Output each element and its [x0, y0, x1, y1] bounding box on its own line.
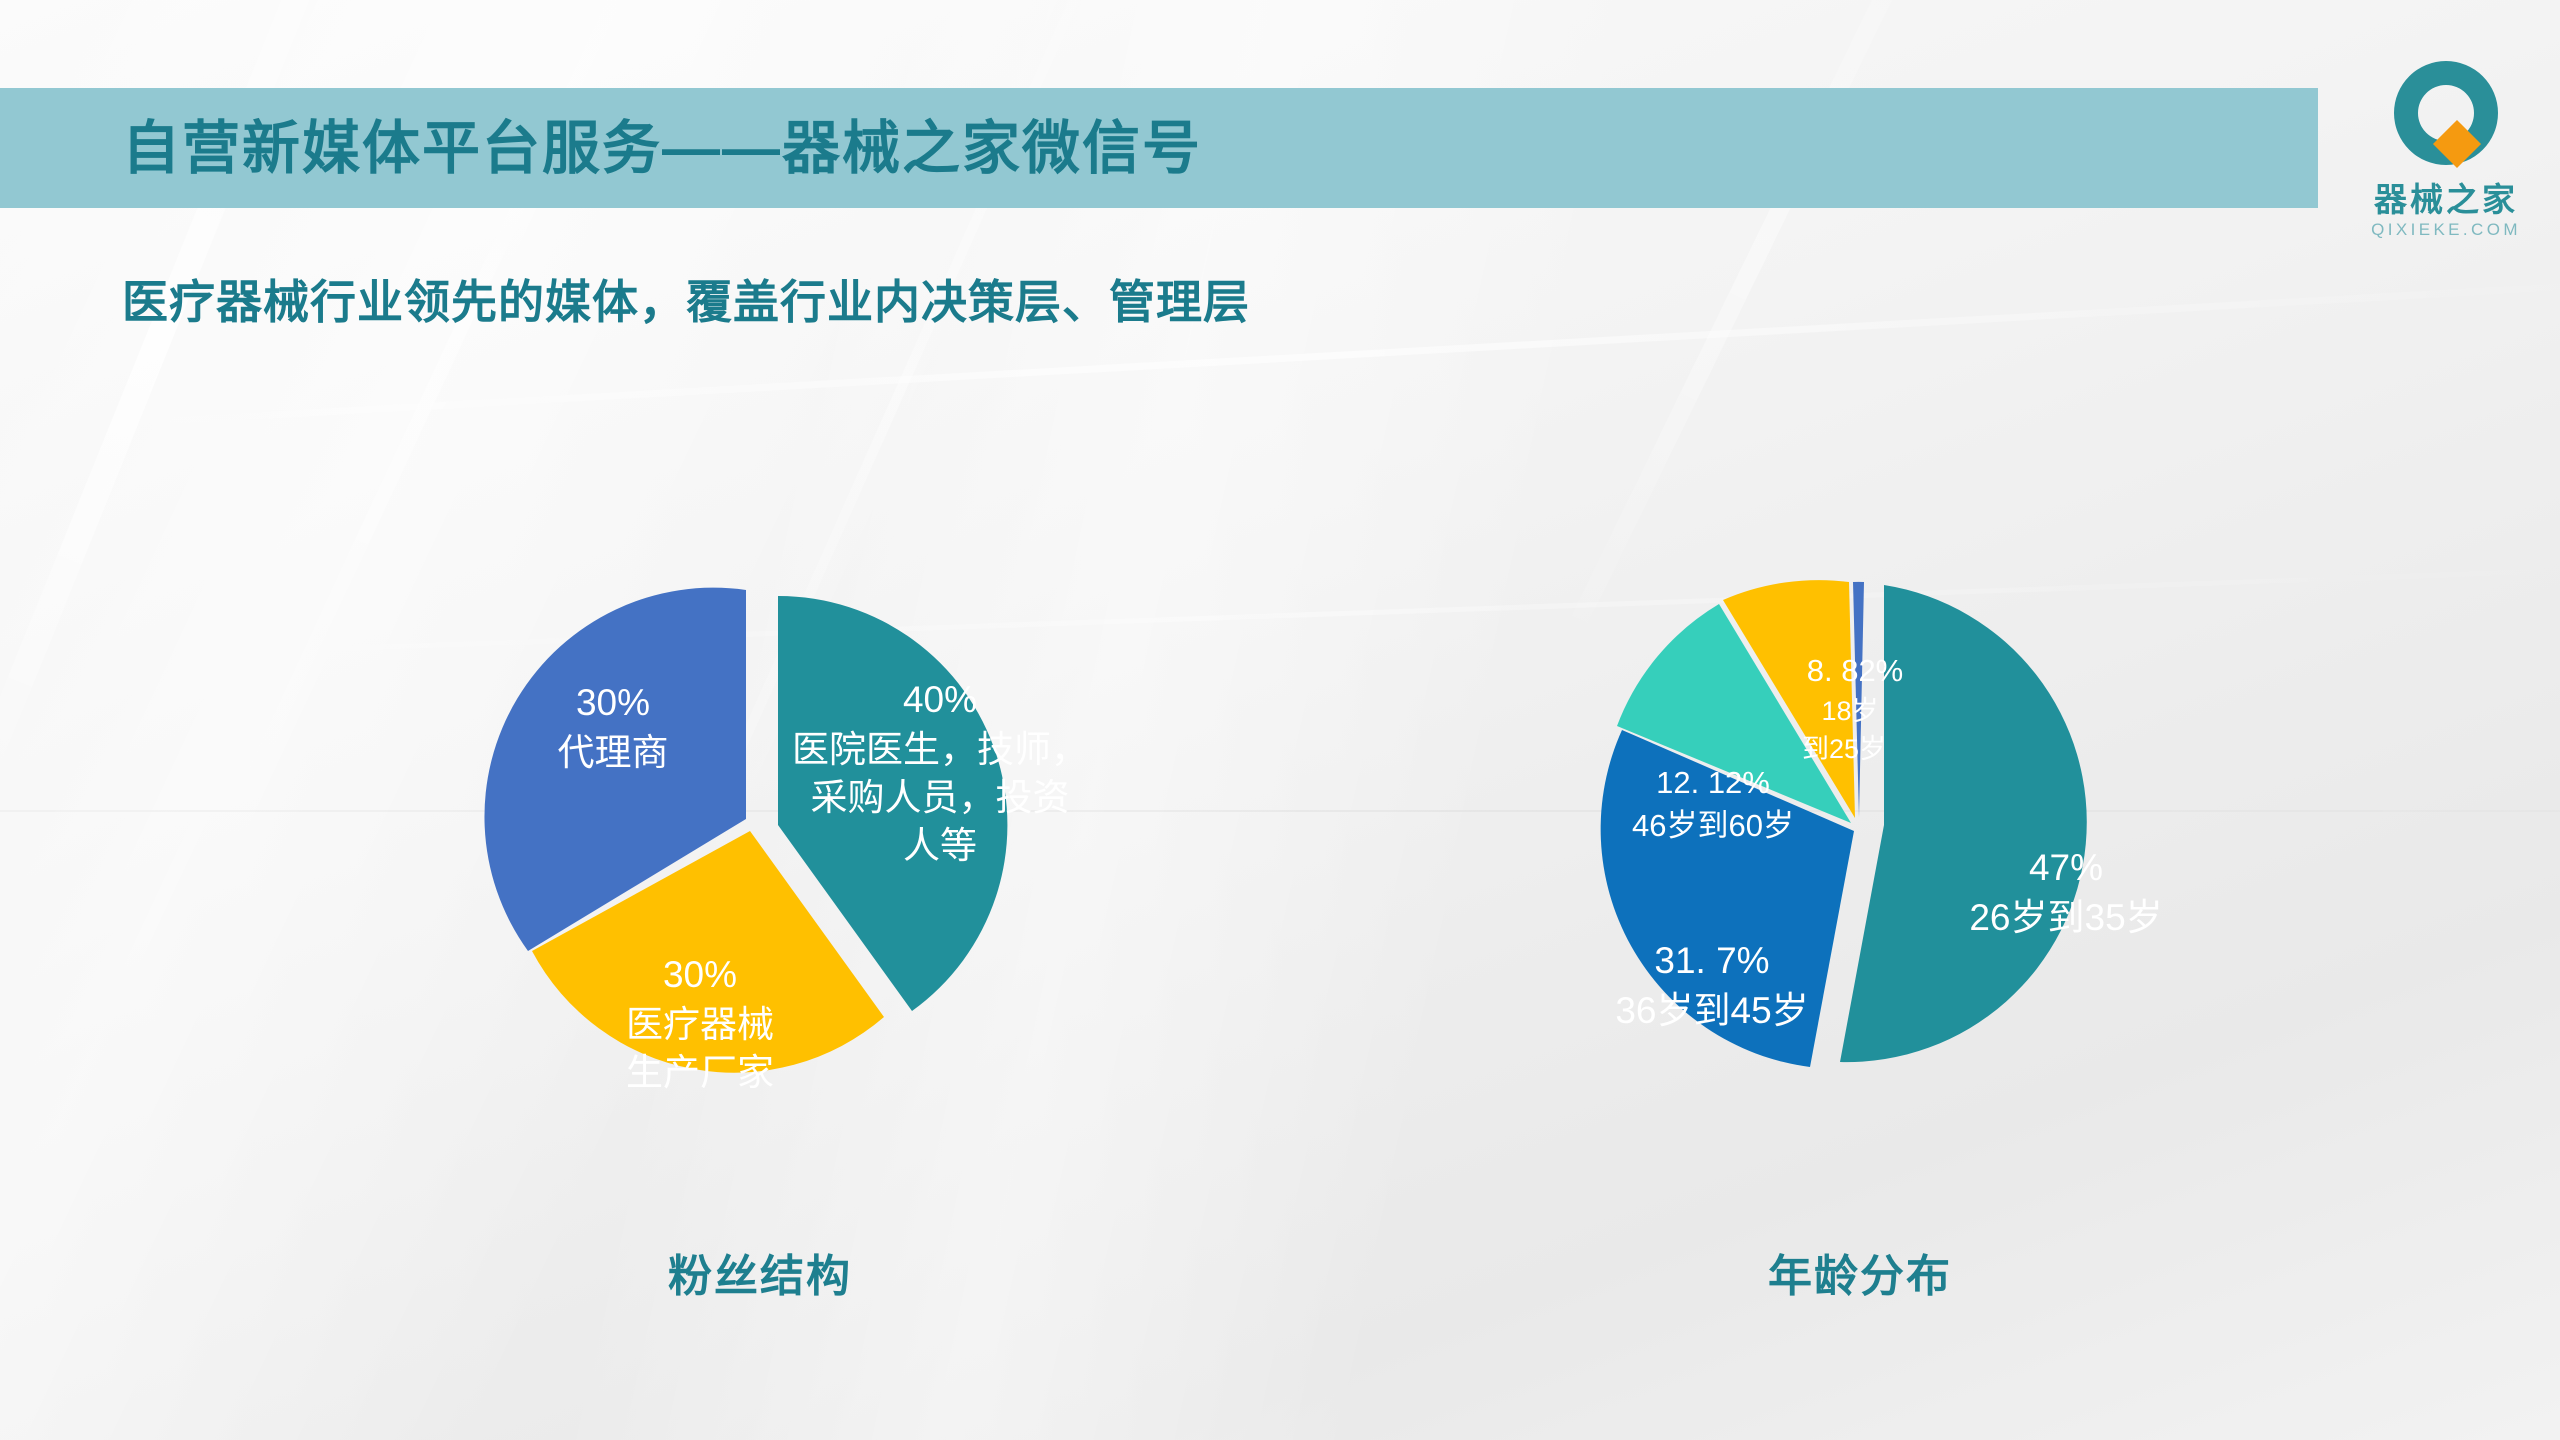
chart-caption-age-distribution: 年龄分布 — [1430, 1240, 2290, 1304]
chart-fans-structure: 40% 医院医生，技师， 采购人员，投资 人等 30% 医疗器械 生产厂家 30… — [330, 400, 1190, 1230]
slice-value-age-36-45: 31. 7% — [1654, 940, 1769, 981]
slice-value-manufacturer: 30% — [663, 954, 737, 995]
slice-name-hospital-staff-l3: 人等 — [903, 825, 977, 866]
slice-name-hospital-staff-l1: 医院医生，技师， — [792, 729, 1088, 770]
chart-caption-fans-structure: 粉丝结构 — [330, 1240, 1190, 1304]
pie-chart-fans-structure: 40% 医院医生，技师， 采购人员，投资 人等 30% 医疗器械 生产厂家 30… — [330, 400, 1190, 1230]
slice-name-hospital-staff-l2: 采购人员，投资 — [811, 777, 1070, 818]
slice-value-distributor: 30% — [576, 682, 650, 723]
brand-name-en: QIXIEKE.COM — [2356, 219, 2536, 241]
slice-name-age-26-35: 26岁到35岁 — [1969, 897, 2162, 938]
page-subtitle: 医疗器械行业领先的媒体，覆盖行业内决策层、管理层 — [122, 266, 1250, 332]
slice-name-distributor: 代理商 — [558, 732, 669, 773]
page-title: 自营新媒体平台服务——器械之家微信号 — [122, 99, 1202, 199]
slice-name-age-18-25-l1: 18岁 — [1821, 696, 1878, 726]
chart-age-distribution: 47% 26岁到35岁 31. 7% 36岁到45岁 12. 12% 46岁到6… — [1430, 400, 2290, 1230]
slice-name-age-46-60: 46岁到60岁 — [1632, 808, 1794, 843]
q-ring-icon — [2378, 55, 2514, 179]
slice-value-age-18-25: 8. 82% — [1807, 653, 1904, 688]
slice-value-hospital-staff: 40% — [903, 679, 977, 720]
slide-canvas: 自营新媒体平台服务——器械之家微信号 医疗器械行业领先的媒体，覆盖行业内决策层、… — [0, 0, 2560, 1440]
brand-name-cn: 器械之家 — [2356, 181, 2536, 219]
slice-name-age-18-25-l2: 到25岁 — [1802, 734, 1886, 764]
brand-logo: 器械之家 QIXIEKE.COM — [2356, 55, 2536, 255]
slice-name-manufacturer-l1: 医疗器械 — [626, 1004, 774, 1045]
slice-value-age-46-60: 12. 12% — [1656, 765, 1770, 800]
slice-name-manufacturer-l2: 生产厂家 — [626, 1052, 774, 1093]
pie-chart-age-distribution: 47% 26岁到35岁 31. 7% 36岁到45岁 12. 12% 46岁到6… — [1430, 400, 2290, 1230]
slice-value-age-26-35: 47% — [2029, 847, 2103, 888]
slice-name-age-36-45: 36岁到45岁 — [1615, 990, 1808, 1031]
